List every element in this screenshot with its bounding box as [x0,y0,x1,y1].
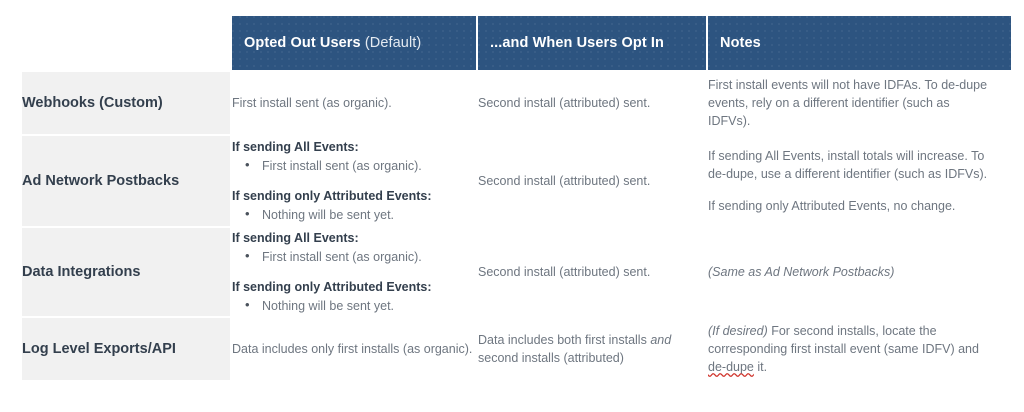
cell-opted-out: Data includes only first installs (as or… [232,318,476,380]
conditional-group: If sending only Attributed Events: Nothi… [232,278,476,315]
table-header-row: Opted Out Users (Default) ...and When Us… [22,16,1011,70]
text-italic-lead: (If desired) [708,324,768,338]
header-cell-opt-in: ...and When Users Opt In [478,16,706,70]
text-tail: it. [754,360,767,374]
row-feature-label: Webhooks (Custom) [22,72,230,134]
header-label-notes-strong: Notes [720,35,761,51]
cell-opted-out: First install sent (as organic). [232,72,476,134]
row-feature-label: Ad Network Postbacks [22,136,230,226]
spellcheck-flagged-word: de-dupe [708,360,754,374]
list-item: First install sent (as organic). [262,157,476,175]
header-cell-blank [22,16,230,70]
conditional-group: If sending All Events: First install sen… [232,138,476,175]
group-lead-label: If sending All Events: [232,138,476,156]
table-row: Ad Network Postbacks If sending All Even… [22,136,1011,226]
cell-notes: (Same as Ad Network Postbacks) [708,228,1011,316]
cell-notes: (If desired) For second installs, locate… [708,318,1011,380]
table-row: Webhooks (Custom) First install sent (as… [22,72,1011,134]
text-emphasis: and [650,333,671,347]
table-row: Data Integrations If sending All Events:… [22,228,1011,316]
row-feature-label: Log Level Exports/API [22,318,230,380]
text-post: second installs (attributed) [478,351,624,365]
cell-text: Second install (attributed) sent. [478,94,706,112]
cell-opt-in: Second install (attributed) sent. [478,228,706,316]
bullet-list: First install sent (as organic). [232,157,476,175]
conditional-group: If sending only Attributed Events: Nothi… [232,187,476,224]
cell-text: Second install (attributed) sent. [478,172,706,190]
comparison-table: Opted Out Users (Default) ...and When Us… [20,14,1013,382]
cell-opt-in: Second install (attributed) sent. [478,72,706,134]
cell-text-rich: (If desired) For second installs, locate… [708,322,993,376]
group-lead-label: If sending only Attributed Events: [232,278,476,296]
cell-opted-out: If sending All Events: First install sen… [232,136,476,226]
list-item: Nothing will be sent yet. [262,297,476,315]
header-label-opted-out-light: (Default) [361,35,422,51]
group-lead-label: If sending only Attributed Events: [232,187,476,205]
table-row: Log Level Exports/API Data includes only… [22,318,1011,380]
bullet-list: Nothing will be sent yet. [232,297,476,315]
page-root: Opted Out Users (Default) ...and When Us… [0,0,1024,412]
bullet-list: First install sent (as organic). [232,248,476,266]
cell-opted-out: If sending All Events: First install sen… [232,228,476,316]
header-label-opted-out-strong: Opted Out Users [244,35,361,51]
header-label-opt-in-strong: ...and When Users Opt In [490,35,664,51]
cell-text: If sending only Attributed Events, no ch… [708,197,993,215]
cell-text-rich: Data includes both first installs and se… [478,331,706,367]
cell-text: Data includes only first installs (as or… [232,340,476,358]
cell-opt-in: Data includes both first installs and se… [478,318,706,380]
header-cell-notes: Notes [708,16,1011,70]
cell-text: First install events will not have IDFAs… [708,76,993,130]
cell-notes: If sending All Events, install totals wi… [708,136,1011,226]
cell-text: If sending All Events, install totals wi… [708,147,993,183]
conditional-group: If sending All Events: First install sen… [232,229,476,266]
header-cell-opted-out: Opted Out Users (Default) [232,16,476,70]
row-feature-label: Data Integrations [22,228,230,316]
cell-text: Second install (attributed) sent. [478,263,706,281]
cell-opt-in: Second install (attributed) sent. [478,136,706,226]
group-lead-label: If sending All Events: [232,229,476,247]
text-pre: Data includes both first installs [478,333,650,347]
cell-text: First install sent (as organic). [232,94,476,112]
bullet-list: Nothing will be sent yet. [232,206,476,224]
cell-text: (Same as Ad Network Postbacks) [708,263,993,281]
list-item: Nothing will be sent yet. [262,206,476,224]
list-item: First install sent (as organic). [262,248,476,266]
cell-notes: First install events will not have IDFAs… [708,72,1011,134]
